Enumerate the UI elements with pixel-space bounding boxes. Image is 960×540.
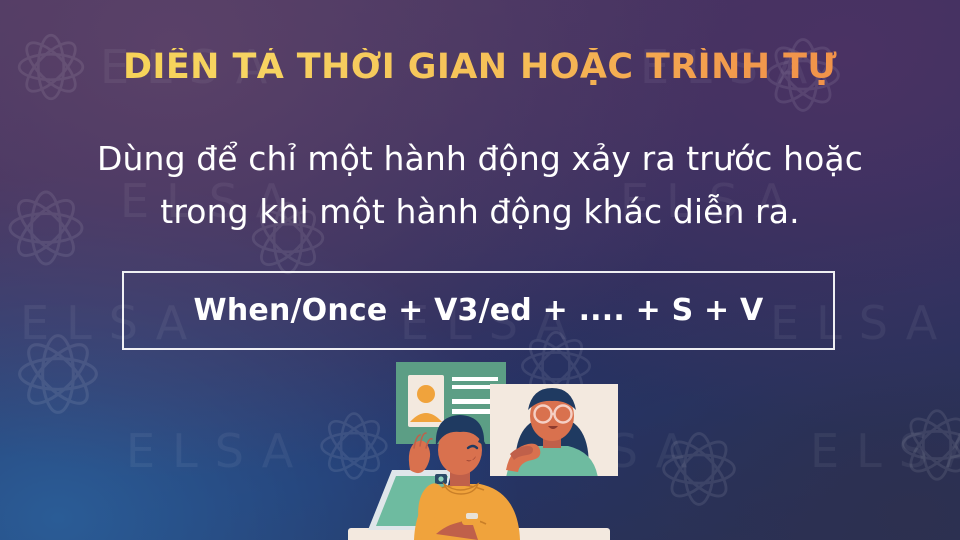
formula-text: When/Once + V3/ed + .... + S + V [194, 293, 764, 328]
eight-petal-star-ornament [640, 410, 758, 528]
eight-petal-star-ornament [0, 310, 122, 438]
brand-watermark: ELSA [126, 428, 310, 474]
page-title: DIỄN TẢ THỜI GIAN HOẶC TRÌNH TỰ [0, 48, 960, 87]
formula-box: When/Once + V3/ed + .... + S + V [122, 271, 835, 350]
eight-petal-star-ornament [880, 388, 960, 502]
subtitle-line-1: Dùng để chỉ một hành động xảy ra trước h… [46, 132, 914, 185]
slide-canvas: ELSA ELSA ELSA ELSA ELSA ELSA ELSA ELSA … [0, 0, 960, 540]
subtitle-block: Dùng để chỉ một hành động xảy ra trước h… [46, 132, 914, 239]
video-call-illustration [340, 358, 630, 540]
brand-watermark: ELSA [810, 428, 960, 474]
video-window [490, 384, 618, 478]
subtitle-line-2: trong khi một hành động khác diễn ra. [46, 185, 914, 238]
